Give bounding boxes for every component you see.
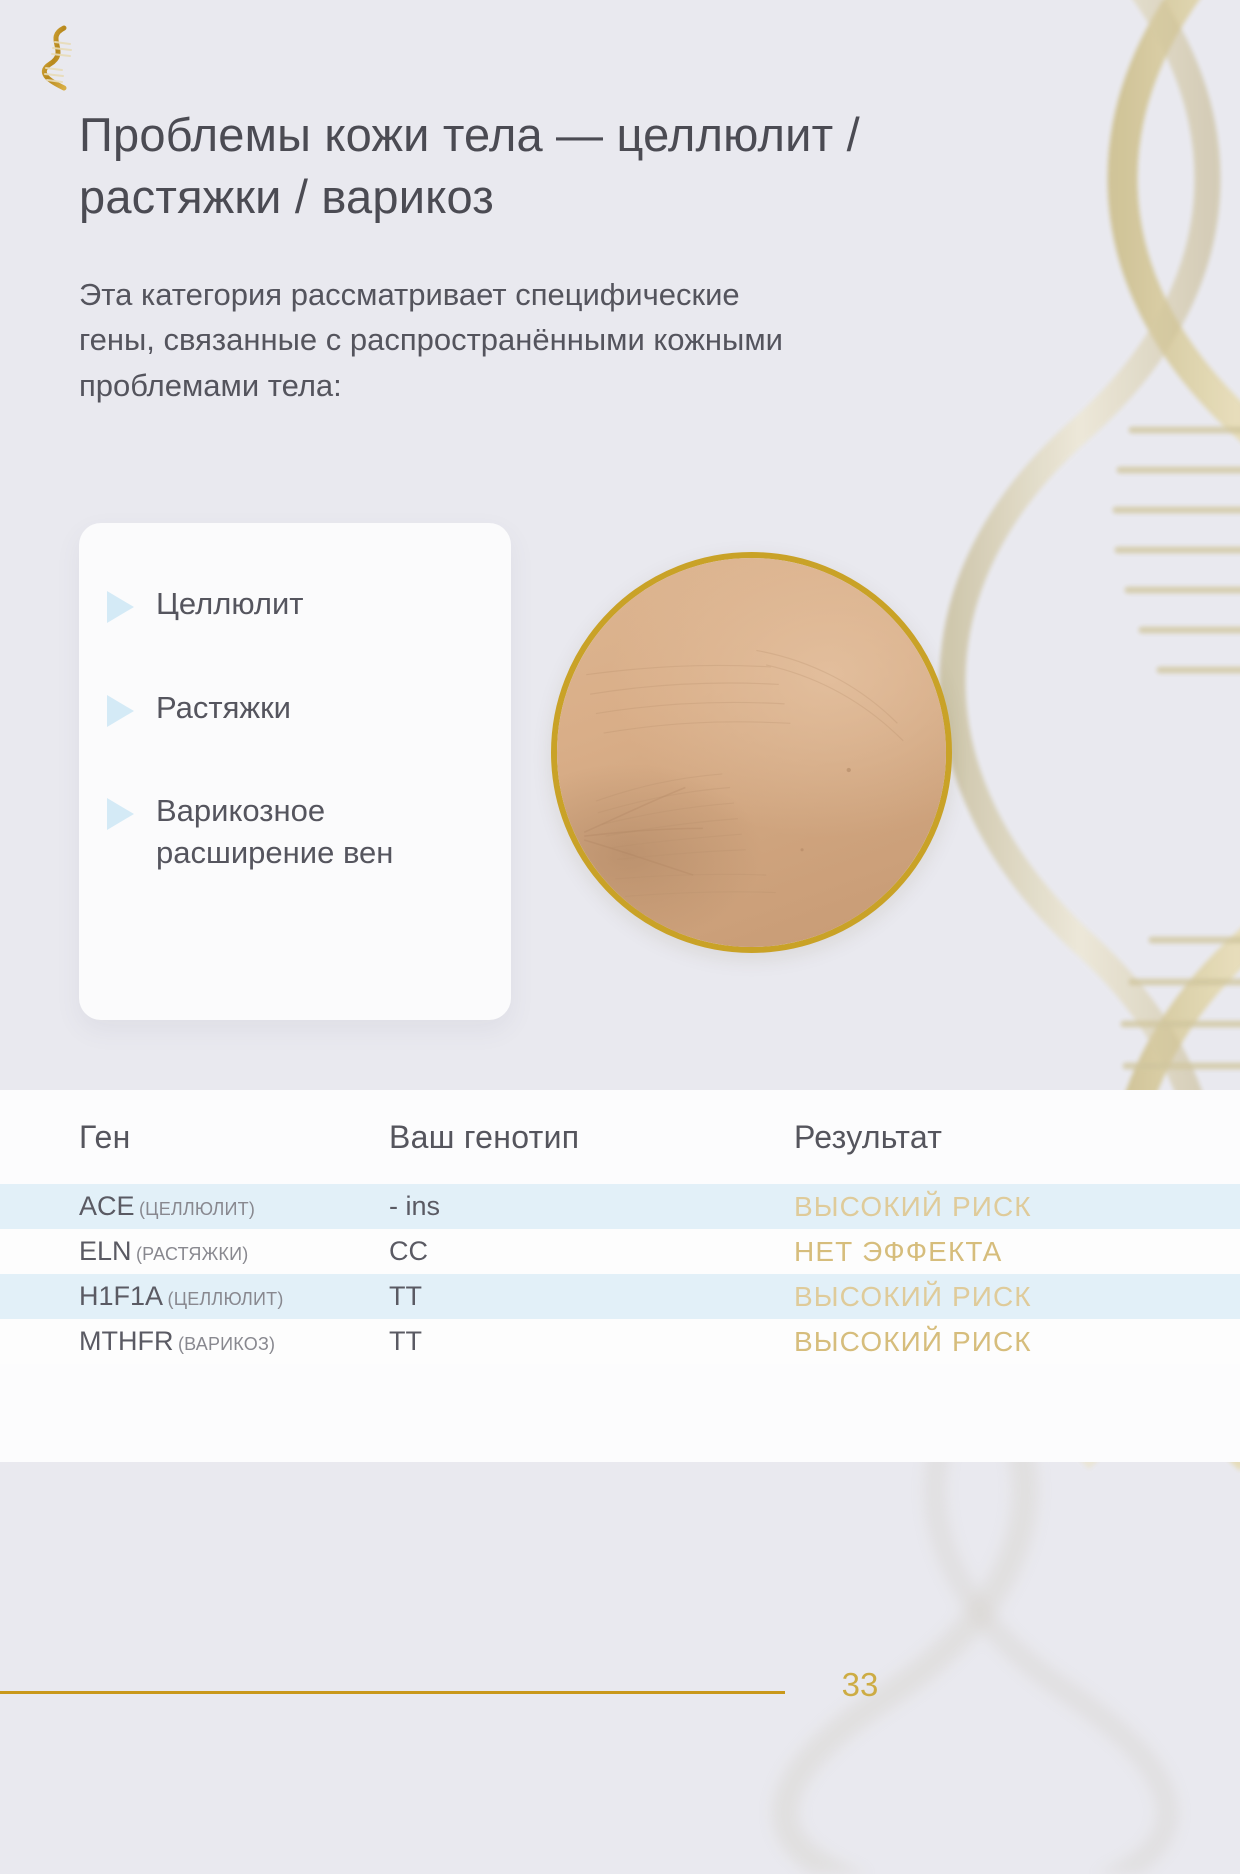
results-table: Ген Ваш генотип Результат ACE (ЦЕЛЛЮЛИТ)…	[0, 1090, 1240, 1462]
table-row[interactable]: ELN (РАСТЯЖКИ) CC НЕТ ЭФФЕКТА	[0, 1229, 1240, 1274]
column-header-genotype: Ваш генотип	[389, 1119, 794, 1156]
column-header-gene: Ген	[79, 1119, 389, 1156]
gene-name: H1F1A	[79, 1281, 163, 1311]
status-badge: НЕТ ЭФФЕКТА	[794, 1236, 1200, 1268]
skin-texture	[557, 558, 946, 947]
cell-genotype: TT	[389, 1281, 794, 1312]
gene-note: (ЦЕЛЛЮЛИТ)	[168, 1289, 284, 1309]
triangle-right-icon	[107, 591, 134, 623]
intro-paragraph: Эта категория рассматривает специфически…	[79, 272, 799, 408]
cell-genotype: CC	[389, 1236, 794, 1267]
page-number: 33	[800, 1666, 920, 1704]
gene-note: (ВАРИКОЗ)	[178, 1334, 275, 1354]
table-row[interactable]: H1F1A (ЦЕЛЛЮЛИТ) TT ВЫСОКИЙ РИСК	[0, 1274, 1240, 1319]
cell-gene: H1F1A (ЦЕЛЛЮЛИТ)	[79, 1281, 389, 1312]
gene-note: (РАСТЯЖКИ)	[136, 1244, 248, 1264]
table-row[interactable]: MTHFR (ВАРИКОЗ) TT ВЫСОКИЙ РИСК	[0, 1319, 1240, 1364]
skin-closeup-photo	[551, 552, 952, 953]
table-row[interactable]: ACE (ЦЕЛЛЮЛИТ) - ins ВЫСОКИЙ РИСК	[0, 1184, 1240, 1229]
status-badge: ВЫСОКИЙ РИСК	[794, 1191, 1200, 1223]
list-item-label: Целлюлит	[156, 583, 304, 625]
table-header-row: Ген Ваш генотип Результат	[0, 1090, 1240, 1184]
list-item-label: Растяжки	[156, 687, 291, 729]
triangle-right-icon	[107, 695, 134, 727]
triangle-right-icon	[107, 798, 134, 830]
column-header-result: Результат	[794, 1119, 1200, 1156]
page-title: Проблемы кожи тела — целлюлит / растяжки…	[79, 104, 939, 228]
list-item[interactable]: Варикозное расширение вен	[107, 790, 485, 873]
list-item-label: Варикозное расширение вен	[156, 790, 485, 873]
status-badge: ВЫСОКИЙ РИСК	[794, 1326, 1200, 1358]
cell-gene: ELN (РАСТЯЖКИ)	[79, 1236, 389, 1267]
list-item[interactable]: Целлюлит	[107, 583, 485, 625]
conditions-list: Целлюлит Растяжки Варикозное расширение …	[79, 523, 511, 1020]
footer-divider	[0, 1691, 785, 1694]
dna-helix-logo	[30, 22, 86, 92]
gene-name: ELN	[79, 1236, 132, 1266]
gene-name: MTHFR	[79, 1326, 173, 1356]
list-item[interactable]: Растяжки	[107, 687, 485, 729]
cell-gene: ACE (ЦЕЛЛЮЛИТ)	[79, 1191, 389, 1222]
cell-genotype: TT	[389, 1326, 794, 1357]
gene-name: ACE	[79, 1191, 135, 1221]
cell-genotype: - ins	[389, 1191, 794, 1222]
cell-gene: MTHFR (ВАРИКОЗ)	[79, 1326, 389, 1357]
status-badge: ВЫСОКИЙ РИСК	[794, 1281, 1200, 1313]
gene-note: (ЦЕЛЛЮЛИТ)	[139, 1199, 255, 1219]
conditions-card: Целлюлит Растяжки Варикозное расширение …	[79, 523, 511, 1020]
